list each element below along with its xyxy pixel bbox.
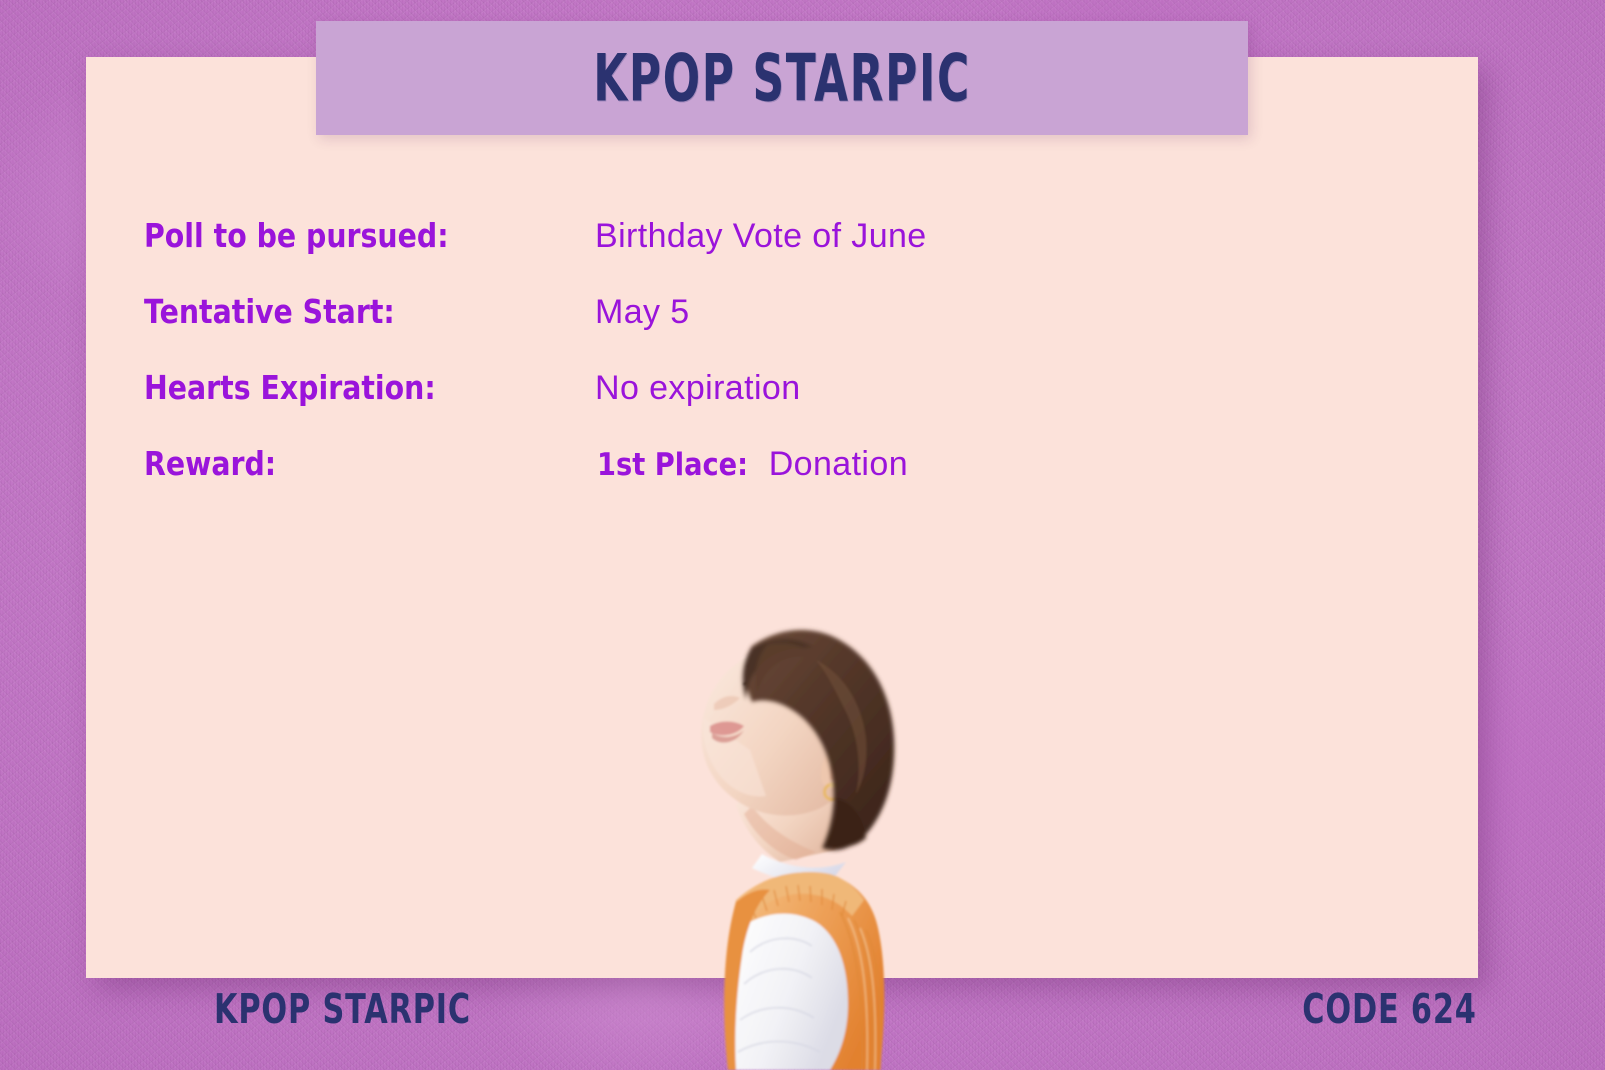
info-row-expiration: Hearts Expiration: No expiration [144, 366, 1304, 412]
info-list: Poll to be pursued: Birthday Vote of Jun… [144, 214, 1304, 518]
reward-prize-label: Donation [769, 445, 908, 483]
info-value-poll: Birthday Vote of June [595, 214, 927, 260]
info-value-start: May 5 [595, 290, 690, 336]
title-banner: KPOP STARPIC [316, 21, 1248, 135]
info-row-poll: Poll to be pursued: Birthday Vote of Jun… [144, 214, 1304, 260]
info-label-start: Tentative Start: [144, 290, 532, 335]
page-title: KPOP STARPIC [593, 40, 971, 116]
info-value-expiration: No expiration [595, 366, 801, 412]
info-label-reward: Reward: [144, 442, 532, 487]
info-label-expiration: Hearts Expiration: [144, 366, 532, 411]
info-row-reward: Reward: 1st Place:Donation [144, 442, 1304, 488]
info-value-reward: 1st Place:Donation [597, 442, 908, 488]
info-row-start: Tentative Start: May 5 [144, 290, 1304, 336]
footer-code: CODE 624 [1303, 986, 1477, 1033]
footer-brand: KPOP STARPIC [214, 986, 471, 1033]
reward-rank-label: 1st Place: [597, 445, 748, 487]
info-label-poll: Poll to be pursued: [144, 214, 532, 259]
